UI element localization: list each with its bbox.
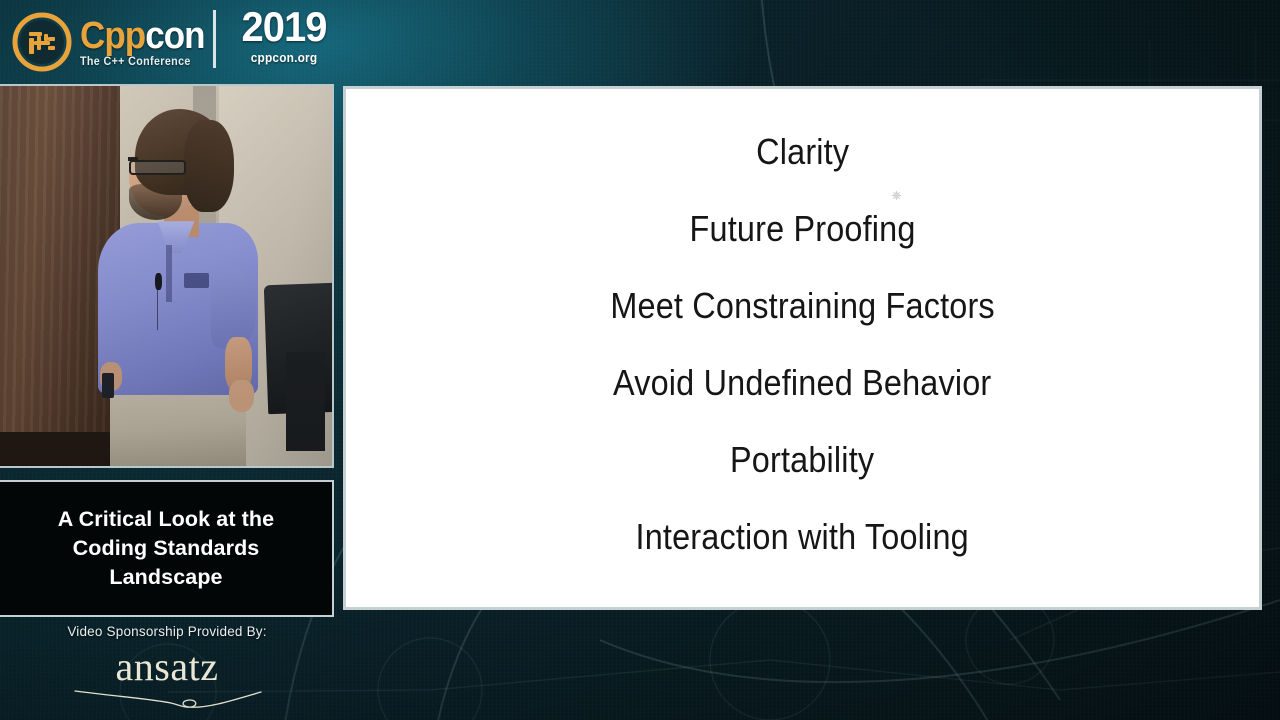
speaker-video-panel[interactable]: Michael Price (0, 84, 334, 468)
slide-bullet: Interaction with Tooling (636, 514, 969, 559)
compression-artifact-icon (891, 190, 902, 201)
slide-panel[interactable]: Clarity Future Proofing Meet Constrainin… (343, 86, 1262, 610)
conference-tagline: The C++ Conference (80, 56, 206, 68)
slide-bullet: Future Proofing (689, 206, 915, 251)
cppcon-circle-logo-icon (12, 12, 72, 72)
brand-divider (213, 10, 216, 68)
sponsor-block: Video Sponsorship Provided By: ansatz (0, 624, 334, 709)
sponsor-label: Video Sponsorship Provided By: (0, 624, 334, 639)
talk-title-line-3: Landscape (109, 565, 222, 589)
talk-title-box: A Critical Look at the Coding Standards … (0, 480, 334, 617)
slide-content: Clarity Future Proofing Meet Constrainin… (346, 89, 1259, 607)
conference-year: 2019 (238, 4, 329, 50)
cppcon-wordmark: Cppcon (80, 17, 205, 55)
talk-title-line-2: Coding Standards (73, 536, 260, 560)
slide-bullet: Meet Constraining Factors (610, 283, 994, 328)
year-block: 2019 cppcon.org (236, 4, 332, 65)
wordmark-con: con (145, 15, 204, 57)
slide-bullet: Portability (730, 437, 874, 482)
presentation-stage: Cppcon The C++ Conference 2019 cppcon.or… (0, 0, 1280, 720)
sponsor-name: ansatz (0, 645, 334, 689)
speaker-video-frame (0, 86, 332, 466)
talk-title: A Critical Look at the Coding Standards … (42, 505, 290, 592)
talk-title-line-1: A Critical Look at the (58, 507, 274, 531)
slide-bullet: Avoid Undefined Behavior (613, 360, 991, 405)
slide-bullet: Clarity (756, 129, 849, 174)
conference-website: cppcon.org (238, 51, 329, 65)
wordmark-cpp: Cpp (80, 15, 145, 57)
